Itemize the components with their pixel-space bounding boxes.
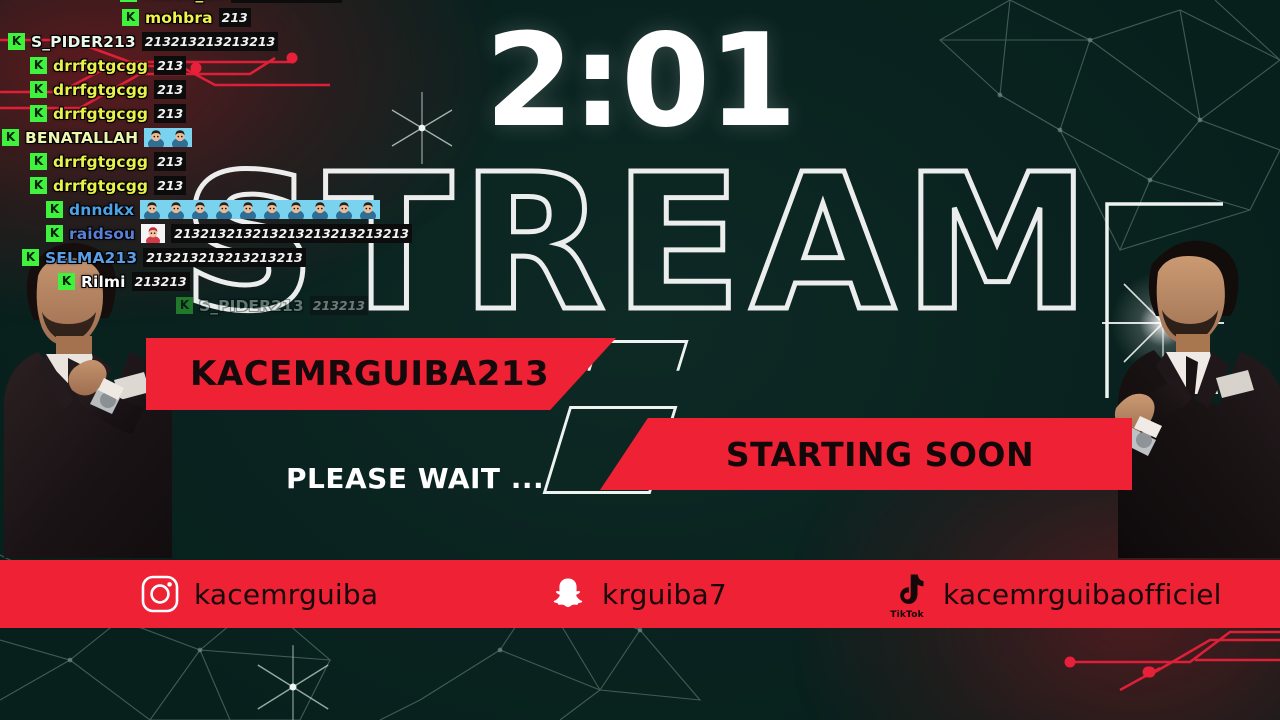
chat-message-row: Kdnndkx [0, 198, 370, 221]
chat-username: raidsou [69, 225, 135, 243]
channel-name-banner: KACEMRGUIBA213 [146, 338, 616, 410]
chat-emote-icon [260, 200, 284, 219]
chat-message-text: 213213213213213213213213213 [171, 224, 412, 243]
countdown-timer: 2:01 [485, 18, 795, 146]
chat-emote-icon [164, 200, 188, 219]
chat-badge-icon: K [30, 105, 47, 122]
chat-message-text: 213 [219, 8, 251, 27]
starting-soon-banner: STARTING SOON [600, 418, 1132, 490]
tiktok-logo-wrap: TikTok [885, 571, 929, 617]
chat-username: S_PIDER213 [31, 33, 136, 51]
live-chat-overlay: KMalek_13213213213213Kmohbra213KS_PIDER2… [0, 0, 370, 317]
chat-badge-icon: K [46, 225, 63, 242]
starting-soon-text: STARTING SOON [698, 435, 1034, 474]
social-link-instagram[interactable]: kacemrguiba [140, 574, 378, 614]
chat-message-row: Kdrrfgtgcgg213 [0, 102, 370, 125]
chat-emote-icon [140, 200, 164, 219]
chat-badge-icon: K [22, 249, 39, 266]
chat-badge-icon: K [30, 81, 47, 98]
chat-emote-icon [308, 200, 332, 219]
tiktok-brand-label: TikTok [885, 610, 929, 620]
chat-badge-icon: K [2, 129, 19, 146]
please-wait-text: PLEASE WAIT ... [286, 462, 544, 495]
chat-emote-icon [236, 200, 260, 219]
chat-badge-icon: K [176, 297, 193, 314]
instagram-handle: kacemrguiba [194, 578, 378, 611]
chat-emote-icon [332, 200, 356, 219]
chat-badge-icon: K [58, 273, 75, 290]
chat-badge-icon: K [120, 0, 137, 2]
social-link-snapchat[interactable]: krguiba7 [548, 574, 727, 614]
chat-emote-icon [356, 200, 380, 219]
chat-username: drrfgtgcgg [53, 177, 148, 195]
chat-username: dnndkx [69, 201, 134, 219]
chat-emote-icon [144, 128, 168, 147]
chat-message-row: KRilmi213213 [0, 270, 370, 293]
chat-username: drrfgtgcgg [53, 57, 148, 75]
chat-message-row: KS_PIDER213213213213213213 [0, 30, 370, 53]
chat-username: mohbra [145, 9, 213, 27]
chat-message-text: 213213213213213213 [143, 248, 306, 267]
chat-badge-icon: K [122, 9, 139, 26]
chat-message-row: Kdrrfgtgcgg213 [0, 78, 370, 101]
chat-message-text: 213 [154, 104, 186, 123]
stream-starting-soon-overlay: STREAM 2:01 KACEMRGUIBA213 STARTING SOON… [0, 0, 1280, 720]
chat-message-text: 213 [154, 56, 186, 75]
instagram-icon [140, 574, 180, 614]
chat-message-row: KBENATALLAH [0, 126, 370, 149]
chat-emote-group [144, 128, 192, 147]
chat-username: Rilmi [81, 273, 126, 291]
chat-message-row: Kdrrfgtgcgg213 [0, 150, 370, 173]
chat-message-row: KSELMA213213213213213213213 [0, 246, 370, 269]
chat-message-row: KS_PIDER213213213 [0, 294, 370, 317]
chat-badge-icon: K [8, 33, 25, 50]
chat-username: Malek_13 [143, 0, 225, 3]
chat-badge-icon: K [30, 153, 47, 170]
chat-message-text: 213 [154, 176, 186, 195]
channel-name-text: KACEMRGUIBA213 [190, 354, 549, 394]
chat-message-text: 213213213213213 [142, 32, 278, 51]
tiktok-icon [885, 571, 929, 611]
chat-username: S_PIDER213 [199, 297, 304, 315]
snapchat-icon [548, 574, 588, 614]
chat-message-row: KMalek_13213213213213 [0, 0, 370, 5]
chat-message-text: 213213 [132, 272, 190, 291]
social-link-tiktok[interactable]: TikTok kacemrguibaofficiel [885, 571, 1222, 617]
chat-message-text: 213213 [310, 296, 368, 315]
chat-emote-icon [188, 200, 212, 219]
snapchat-handle: krguiba7 [602, 578, 727, 611]
chat-message-row: Kraidsou213213213213213213213213213 [0, 222, 370, 245]
chat-message-row: Kdrrfgtgcgg213 [0, 54, 370, 77]
chat-message-text: 213213213213 [231, 0, 341, 3]
chat-username: SELMA213 [45, 249, 137, 267]
chat-username: drrfgtgcgg [53, 105, 148, 123]
chat-username: drrfgtgcgg [53, 153, 148, 171]
chat-emote-group [140, 200, 380, 219]
chat-emote-group [141, 224, 165, 243]
chat-message-row: Kdrrfgtgcgg213 [0, 174, 370, 197]
chat-message-text: 213 [154, 80, 186, 99]
chat-username: BENATALLAH [25, 129, 138, 147]
chat-badge-icon: K [46, 201, 63, 218]
chat-emote-icon [168, 128, 192, 147]
chat-message-row: Kmohbra213 [0, 6, 370, 29]
chat-emote-icon [212, 200, 236, 219]
chat-badge-icon: K [30, 177, 47, 194]
chat-username: drrfgtgcgg [53, 81, 148, 99]
chat-message-text: 213 [154, 152, 186, 171]
chat-badge-icon: K [30, 57, 47, 74]
chat-emote-icon [284, 200, 308, 219]
tiktok-handle: kacemrguibaofficiel [943, 578, 1222, 611]
chat-emote-icon [141, 224, 165, 243]
social-links-bar: kacemrguiba krguiba7 TikTok kacemrguibao… [0, 560, 1280, 628]
